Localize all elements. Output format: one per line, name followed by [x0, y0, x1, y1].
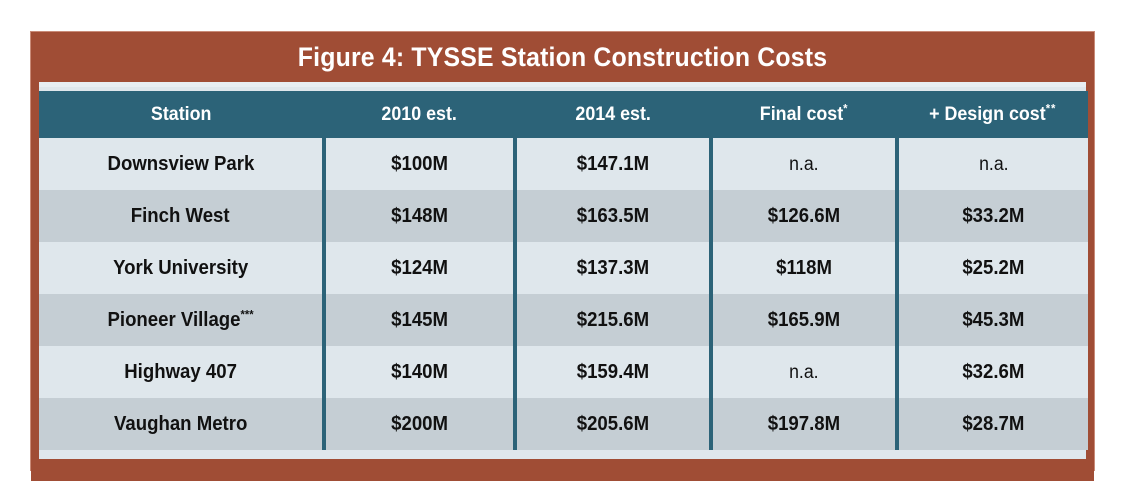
- station-name: York University: [113, 257, 248, 279]
- value-2010-est: $140M: [391, 361, 448, 384]
- cell-2010-est: $100M: [324, 138, 515, 190]
- cell-design-cost: $28.7M: [897, 398, 1088, 450]
- cell-station: Downsview Park: [39, 138, 324, 190]
- value-2010-est: $100M: [391, 153, 448, 176]
- cell-2010-est: $140M: [324, 346, 515, 398]
- value-final-cost: $165.9M: [768, 309, 840, 332]
- station-name-wrap: Finch West: [131, 205, 230, 228]
- figure-title: Figure 4: TYSSE Station Construction Cos…: [74, 32, 1052, 82]
- table-body: Downsview Park $100M $147.1M n.a. n.a. F…: [39, 138, 1088, 450]
- column-header-final-cost: Final cost*: [711, 91, 897, 138]
- table-row: Finch West $148M $163.5M $126.6M $33.2M: [39, 190, 1088, 242]
- column-header-2014-est: 2014 est.: [515, 91, 711, 138]
- cell-2014-est: $147.1M: [515, 138, 711, 190]
- figure-footer-bar: [31, 459, 1094, 481]
- column-header-2010-est: 2010 est.: [324, 91, 515, 138]
- design-cost-footnote-marker: **: [1045, 101, 1056, 115]
- column-header-2014-est-label: 2014 est.: [575, 104, 650, 126]
- cell-design-cost: n.a.: [897, 138, 1088, 190]
- cell-station: Vaughan Metro: [39, 398, 324, 450]
- value-design-cost: $28.7M: [962, 413, 1024, 436]
- cell-station: Finch West: [39, 190, 324, 242]
- value-2010-est: $145M: [391, 309, 448, 332]
- value-final-cost: $197.8M: [768, 413, 840, 436]
- column-header-station-label: Station: [151, 104, 212, 126]
- cell-design-cost: $25.2M: [897, 242, 1088, 294]
- cell-final-cost: n.a.: [711, 346, 897, 398]
- cell-2010-est: $145M: [324, 294, 515, 346]
- table-row: Highway 407 $140M $159.4M n.a. $32.6M: [39, 346, 1088, 398]
- value-design-cost: $32.6M: [962, 361, 1024, 384]
- cell-station: Pioneer Village***: [39, 294, 324, 346]
- value-2014-est: $159.4M: [577, 361, 649, 384]
- station-name: Vaughan Metro: [114, 413, 247, 435]
- station-name: Pioneer Village: [107, 309, 240, 331]
- cell-2014-est: $137.3M: [515, 242, 711, 294]
- station-footnote-marker: ***: [240, 307, 253, 321]
- column-header-final-cost-wrap: Final cost*: [760, 104, 848, 126]
- table-header: Station 2010 est. 2014 est. Final cost* …: [39, 91, 1088, 138]
- table-row: Vaughan Metro $200M $205.6M $197.8M $28.…: [39, 398, 1088, 450]
- column-header-design-cost: + Design cost**: [897, 91, 1088, 138]
- value-design-cost: $33.2M: [962, 205, 1024, 228]
- station-name-wrap: Vaughan Metro: [114, 413, 247, 436]
- final-cost-footnote-marker: *: [843, 101, 847, 115]
- value-final-cost: $118M: [776, 257, 832, 280]
- cell-station: York University: [39, 242, 324, 294]
- station-name-wrap: Highway 407: [124, 361, 237, 384]
- value-2014-est: $215.6M: [577, 309, 649, 332]
- cell-2014-est: $215.6M: [515, 294, 711, 346]
- cell-final-cost: $165.9M: [711, 294, 897, 346]
- station-name: Finch West: [131, 205, 230, 227]
- cell-design-cost: $45.3M: [897, 294, 1088, 346]
- column-header-final-cost-label: Final cost: [760, 104, 843, 125]
- column-header-design-cost-label: + Design cost: [929, 104, 1046, 125]
- value-final-cost: $126.6M: [768, 205, 840, 228]
- value-design-cost: $25.2M: [962, 257, 1024, 280]
- value-2014-est: $163.5M: [577, 205, 649, 228]
- table-area: Station 2010 est. 2014 est. Final cost* …: [39, 87, 1086, 459]
- table-row: Pioneer Village*** $145M $215.6M $165.9M…: [39, 294, 1088, 346]
- value-design-cost: $45.3M: [962, 309, 1024, 332]
- cell-2010-est: $124M: [324, 242, 515, 294]
- figure-container: Figure 4: TYSSE Station Construction Cos…: [30, 31, 1095, 471]
- station-name-wrap: Pioneer Village***: [107, 309, 253, 332]
- cell-final-cost: $118M: [711, 242, 897, 294]
- value-2014-est: $147.1M: [577, 153, 649, 176]
- column-header-design-cost-wrap: + Design cost**: [929, 104, 1056, 126]
- cell-2014-est: $205.6M: [515, 398, 711, 450]
- value-2014-est: $205.6M: [577, 413, 649, 436]
- cell-final-cost: n.a.: [711, 138, 897, 190]
- cell-final-cost: $197.8M: [711, 398, 897, 450]
- cell-design-cost: $33.2M: [897, 190, 1088, 242]
- cell-2010-est: $200M: [324, 398, 515, 450]
- station-name-wrap: York University: [113, 257, 248, 280]
- header-row: Station 2010 est. 2014 est. Final cost* …: [39, 91, 1088, 138]
- cell-design-cost: $32.6M: [897, 346, 1088, 398]
- value-2010-est: $124M: [391, 257, 448, 280]
- construction-costs-table: Station 2010 est. 2014 est. Final cost* …: [39, 91, 1088, 450]
- value-2010-est: $200M: [391, 413, 448, 436]
- value-final-cost: n.a.: [789, 154, 818, 176]
- cell-final-cost: $126.6M: [711, 190, 897, 242]
- value-2014-est: $137.3M: [577, 257, 649, 280]
- table-row: York University $124M $137.3M $118M $25.…: [39, 242, 1088, 294]
- table-row: Downsview Park $100M $147.1M n.a. n.a.: [39, 138, 1088, 190]
- cell-2010-est: $148M: [324, 190, 515, 242]
- value-final-cost: n.a.: [789, 362, 818, 384]
- column-header-2010-est-label: 2010 est.: [382, 104, 457, 126]
- cell-2014-est: $163.5M: [515, 190, 711, 242]
- station-name-wrap: Downsview Park: [107, 153, 254, 176]
- value-design-cost: n.a.: [979, 154, 1008, 176]
- table-bottom-strip: [39, 450, 1086, 459]
- column-header-station: Station: [39, 91, 324, 138]
- cell-2014-est: $159.4M: [515, 346, 711, 398]
- value-2010-est: $148M: [391, 205, 448, 228]
- cell-station: Highway 407: [39, 346, 324, 398]
- station-name: Highway 407: [124, 361, 237, 383]
- station-name: Downsview Park: [107, 153, 254, 175]
